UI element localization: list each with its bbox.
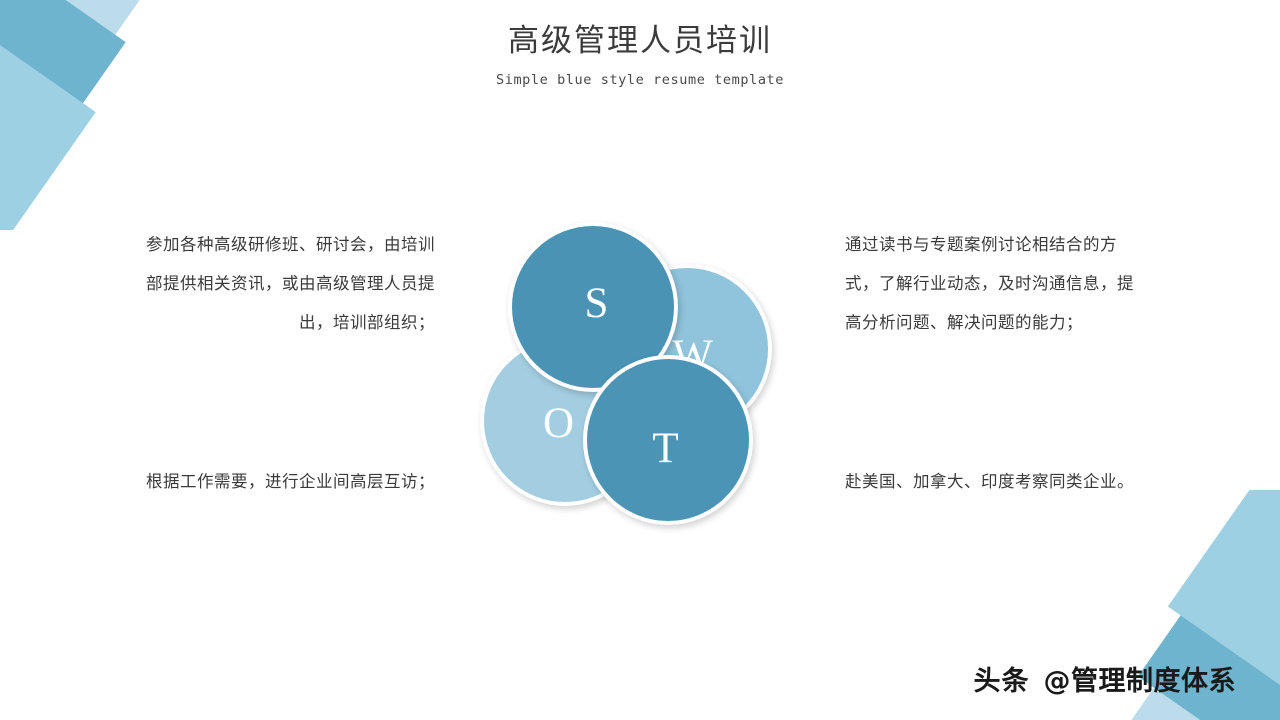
swot-letter-t: T bbox=[652, 427, 679, 470]
swot-letter-s: S bbox=[585, 282, 610, 325]
slide-header: 高级管理人员培训 Simple blue style resume templa… bbox=[0, 18, 1280, 88]
swot-diagram: S W O T bbox=[480, 222, 790, 527]
swot-letter-o: O bbox=[543, 402, 575, 445]
watermark-logo: 头条 bbox=[974, 659, 1030, 698]
watermark: 头条 @管理制度体系 bbox=[974, 659, 1237, 698]
text-block-right-bottom: 赴美国、加拿大、印度考察同类企业。 bbox=[845, 462, 1145, 501]
swot-petal-t[interactable]: T bbox=[583, 355, 753, 525]
text-block-right-top: 通过读书与专题案例讨论相结合的方式，了解行业动态，及时沟通信息，提高分析问题、解… bbox=[845, 225, 1145, 342]
page-title: 高级管理人员培训 bbox=[0, 18, 1280, 64]
page-subtitle: Simple blue style resume template bbox=[0, 72, 1280, 88]
text-block-left-top: 参加各种高级研修班、研讨会，由培训部提供相关资讯，或由高级管理人员提出，培训部组… bbox=[135, 225, 435, 342]
text-block-left-bottom: 根据工作需要，进行企业间高层互访； bbox=[135, 462, 435, 501]
watermark-text: @管理制度体系 bbox=[1044, 659, 1237, 698]
